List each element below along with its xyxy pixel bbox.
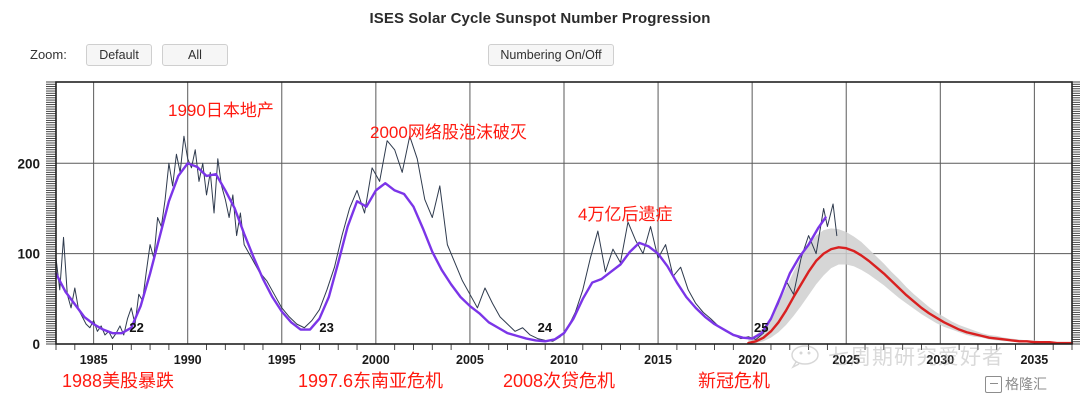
zoom-label: Zoom: — [30, 47, 67, 62]
cycle-number-label: 25 — [754, 320, 768, 335]
numbering-toggle-button[interactable]: Numbering On/Off — [488, 44, 614, 66]
plot-area[interactable]: 0100200198519901995200020052010201520202… — [0, 78, 1080, 348]
solar-cycle-chart-page: ISES Solar Cycle Sunspot Number Progress… — [0, 0, 1080, 404]
x-axis-tick-label: 2005 — [456, 353, 484, 367]
x-axis-tick-label: 2020 — [738, 353, 766, 367]
chart-annotation: 1990日本地产 — [168, 102, 274, 119]
chart-toolbar: Zoom: Default All Numbering On/Off — [0, 44, 1080, 68]
y-axis-tick-label: 100 — [17, 247, 40, 262]
x-axis-tick-label: 1985 — [80, 353, 108, 367]
timeline-annotation: 2008次贷危机 — [503, 372, 615, 390]
publisher-logo-text: 格隆汇 — [1005, 374, 1047, 394]
x-axis-tick-label: 2025 — [832, 353, 860, 367]
x-axis-tick-label: 2000 — [362, 353, 390, 367]
cycle-number-label: 24 — [538, 320, 553, 335]
publisher-logo: 格隆汇 — [985, 374, 1047, 394]
zoom-all-button[interactable]: All — [162, 44, 228, 66]
logo-mark-icon — [985, 376, 1002, 393]
x-axis-tick-label: 2030 — [926, 353, 954, 367]
page-title: ISES Solar Cycle Sunspot Number Progress… — [0, 10, 1080, 27]
timeline-annotation: 1988美股暴跌 — [62, 372, 174, 390]
x-axis-tick-label: 1990 — [174, 353, 202, 367]
cycle-number-label: 23 — [319, 320, 333, 335]
x-axis-tick-label: 2015 — [644, 353, 672, 367]
timeline-annotation: 新冠危机 — [698, 372, 770, 390]
x-axis-tick-label: 2010 — [550, 353, 578, 367]
y-axis-tick-label: 200 — [17, 156, 40, 171]
cycle-number-label: 22 — [129, 320, 143, 335]
x-axis-tick-label: 1995 — [268, 353, 296, 367]
chart-annotation: 4万亿后遗症 — [578, 206, 672, 223]
timeline-annotation: 1997.6东南亚危机 — [298, 372, 443, 390]
zoom-default-button[interactable]: Default — [86, 44, 152, 66]
y-axis-tick-label: 0 — [32, 337, 40, 352]
sunspot-chart-svg[interactable]: 0100200198519901995200020052010201520202… — [0, 78, 1080, 368]
x-axis-tick-label: 2035 — [1020, 353, 1048, 367]
chart-annotation: 2000网络股泡沫破灭 — [370, 124, 527, 141]
